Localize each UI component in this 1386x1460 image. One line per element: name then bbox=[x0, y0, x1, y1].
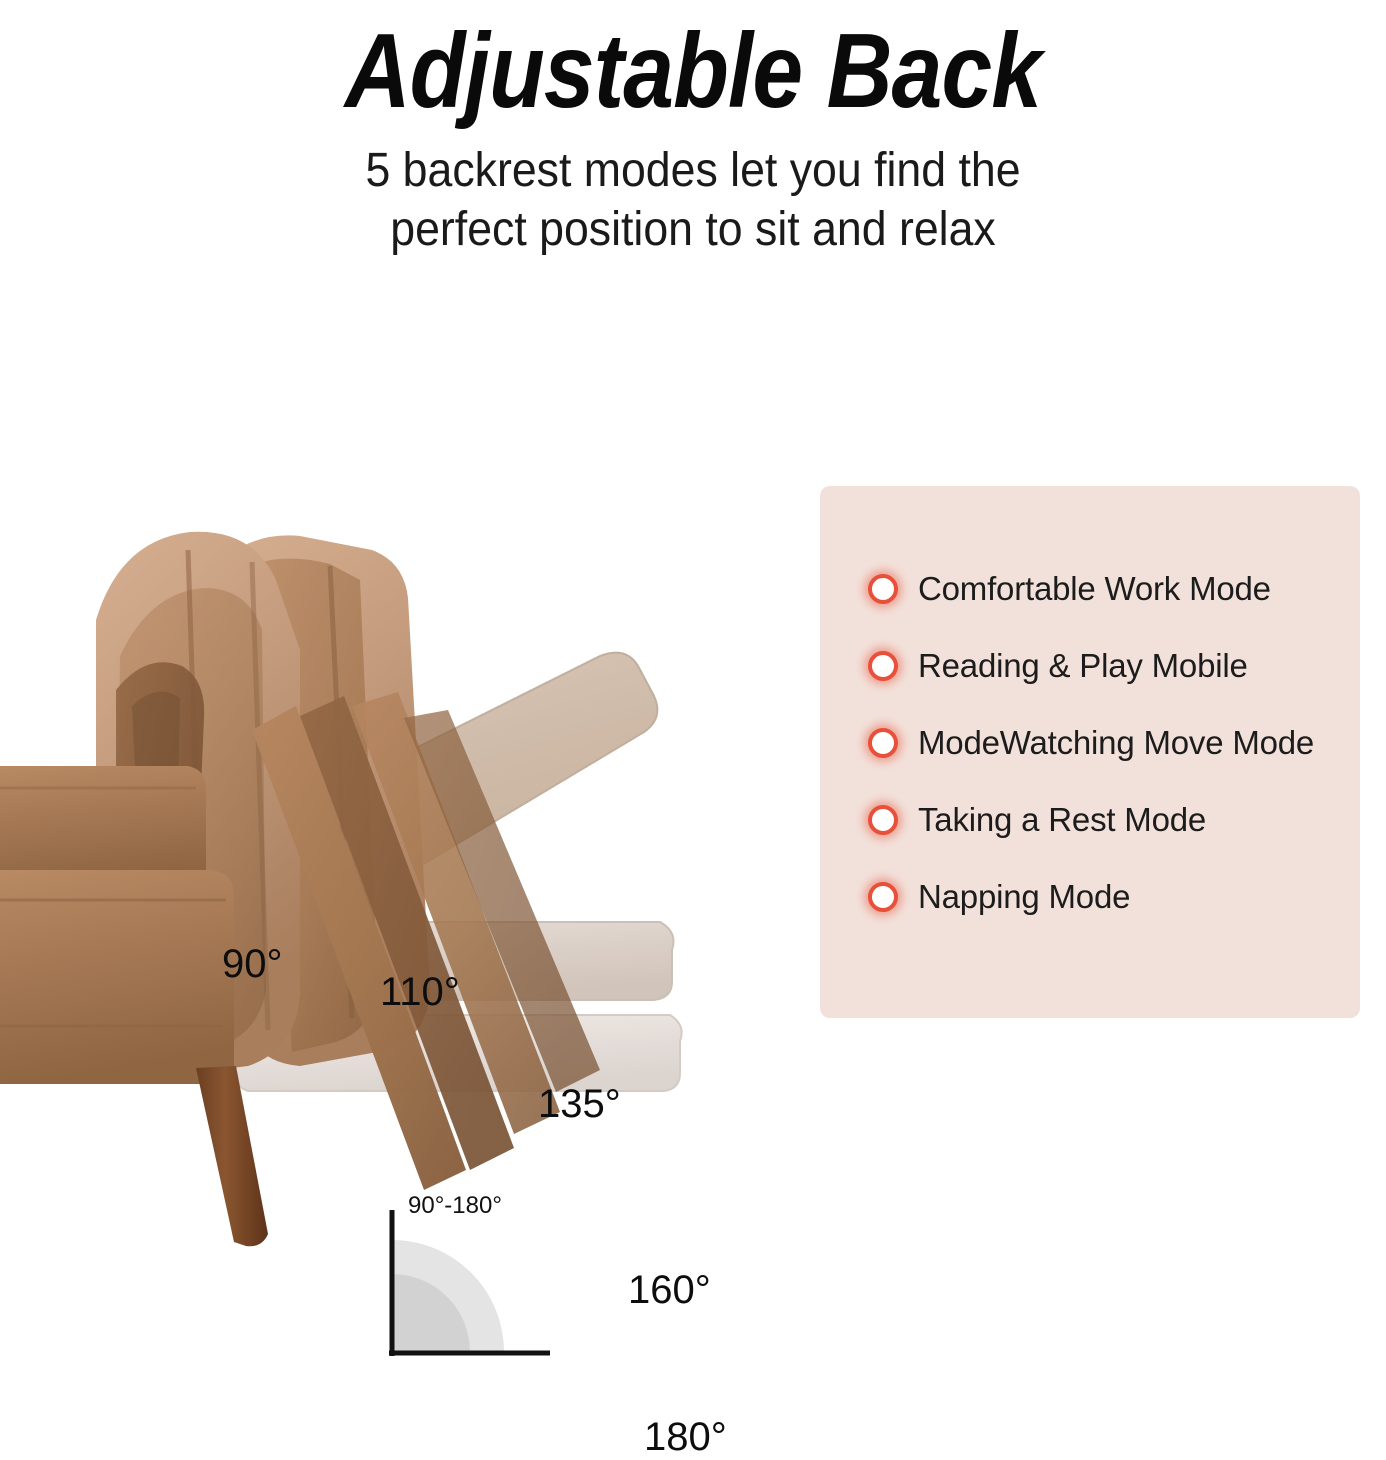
bullet-icon bbox=[868, 728, 898, 758]
page-subtitle-line-1: 5 backrest modes let you find the bbox=[49, 142, 1338, 201]
angle-label-180: 180° bbox=[644, 1415, 727, 1460]
page-title: Adjustable Back bbox=[97, 0, 1289, 124]
list-item[interactable]: Reading & Play Mobile bbox=[868, 641, 1346, 691]
feature-label: Napping Mode bbox=[918, 878, 1130, 916]
page-subtitle-line-2: perfect position to sit and relax bbox=[49, 201, 1338, 260]
product-figure: 90° 110° 135° 160° 180° bbox=[0, 470, 800, 1260]
chair-photo bbox=[0, 470, 800, 1260]
header: Adjustable Back 5 backrest modes let you… bbox=[0, 0, 1386, 259]
page-subtitle: 5 backrest modes let you find the perfec… bbox=[49, 124, 1338, 259]
list-item[interactable]: Napping Mode bbox=[868, 872, 1346, 922]
list-item[interactable]: Comfortable Work Mode bbox=[868, 564, 1346, 614]
angle-label-110: 110° bbox=[380, 970, 460, 1015]
chair-leg bbox=[196, 1066, 268, 1246]
angle-label-135: 135° bbox=[538, 1082, 621, 1127]
feature-label: Reading & Play Mobile bbox=[918, 647, 1248, 685]
list-item[interactable]: Taking a Rest Mode bbox=[868, 795, 1346, 845]
bullet-icon bbox=[868, 651, 898, 681]
angle-range-label: 90°-180° bbox=[408, 1192, 502, 1220]
angle-range-glyph bbox=[378, 1196, 568, 1376]
feature-label: Taking a Rest Mode bbox=[918, 801, 1206, 839]
bullet-icon bbox=[868, 574, 898, 604]
angle-label-90: 90° bbox=[222, 942, 283, 987]
bullet-icon bbox=[868, 805, 898, 835]
feature-label: ModeWatching Move Mode bbox=[918, 724, 1314, 762]
feature-panel: Comfortable Work Mode Reading & Play Mob… bbox=[820, 486, 1360, 1018]
feature-label: Comfortable Work Mode bbox=[918, 570, 1271, 608]
list-item[interactable]: ModeWatching Move Mode bbox=[868, 718, 1346, 768]
angle-range-diagram: 90°-180° bbox=[378, 1196, 568, 1376]
angle-label-160: 160° bbox=[628, 1268, 711, 1313]
bullet-icon bbox=[868, 882, 898, 912]
feature-list: Comfortable Work Mode Reading & Play Mob… bbox=[868, 564, 1346, 922]
chair-arm bbox=[0, 766, 234, 1084]
